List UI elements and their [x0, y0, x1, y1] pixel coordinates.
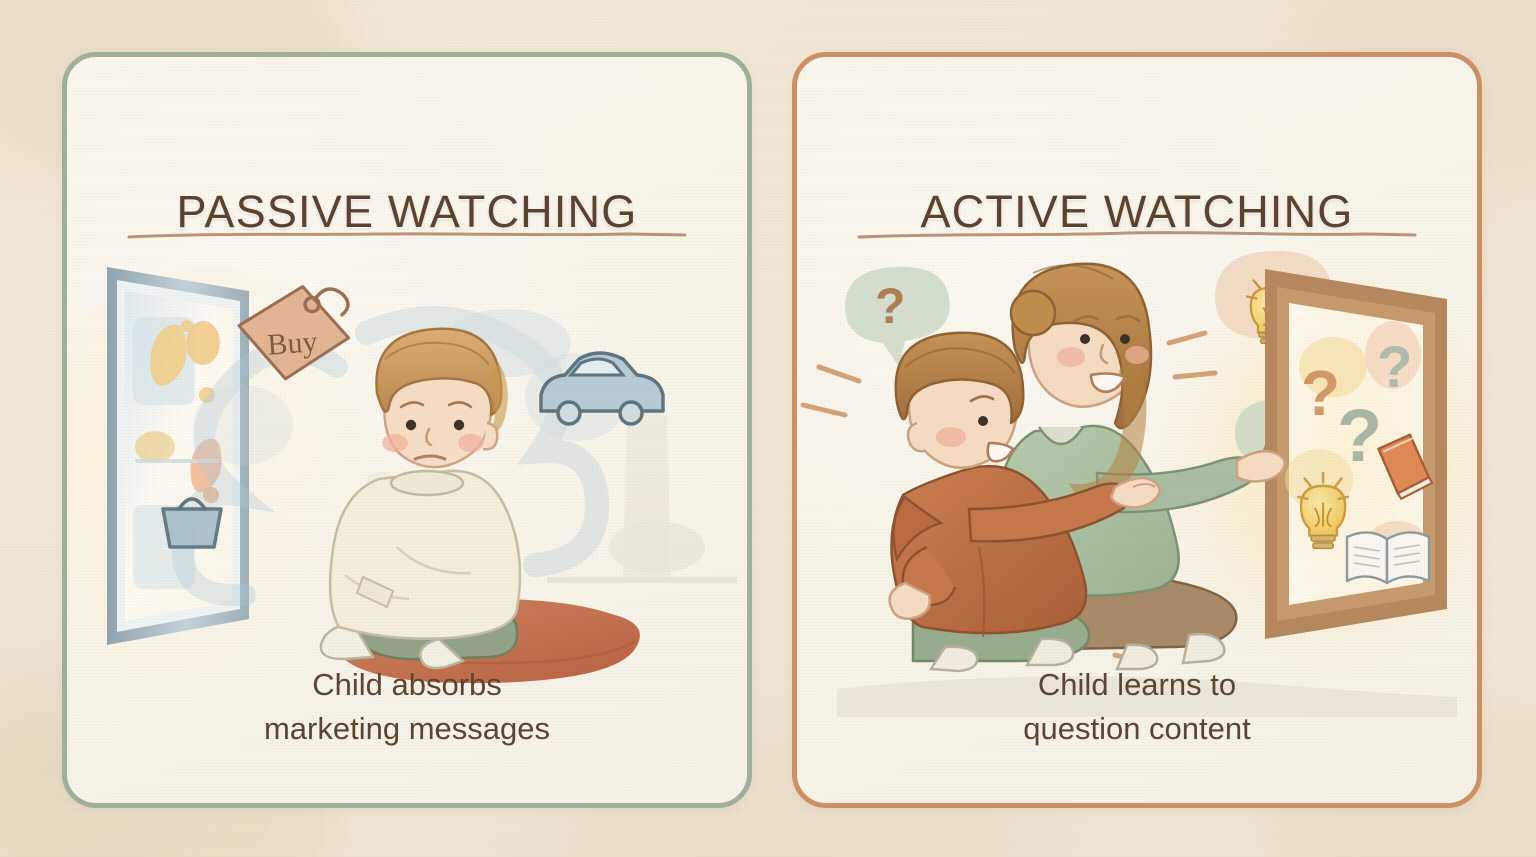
caption-passive: Child absorbs marketing messages	[67, 663, 747, 751]
illustration-active: ?	[797, 247, 1477, 717]
svg-text:?: ?	[1301, 357, 1340, 429]
panel-passive-watching: PASSIVE WATCHING	[62, 52, 752, 808]
svg-text:?: ?	[1337, 394, 1382, 477]
open-book-icon	[1347, 532, 1429, 583]
svg-text:?: ?	[1377, 335, 1412, 400]
svg-text:Buy: Buy	[266, 325, 318, 361]
panel-active-watching: ACTIVE WATCHING	[792, 52, 1482, 808]
caption-active-line2: question content	[797, 707, 1477, 751]
title-divider-left	[127, 229, 687, 241]
caption-active: Child learns to question content	[797, 663, 1477, 751]
title-divider-right	[857, 229, 1417, 241]
caption-passive-line1: Child absorbs	[67, 663, 747, 707]
svg-text:?: ?	[875, 278, 906, 334]
caption-passive-line2: marketing messages	[67, 707, 747, 751]
caption-active-line1: Child learns to	[797, 663, 1477, 707]
infographic-canvas: PASSIVE WATCHING	[0, 0, 1536, 857]
illustration-passive: Buy	[67, 247, 747, 717]
screen-frame-icon: ? ? ?	[1265, 269, 1447, 639]
